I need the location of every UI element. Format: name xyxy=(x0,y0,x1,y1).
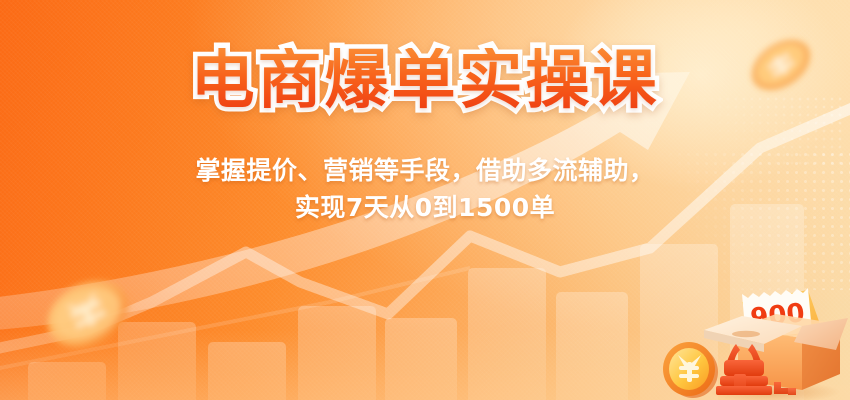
subtitle-block: 掌握提价、营销等手段，借助多流辅助， 实现7天从0到1500单 xyxy=(0,152,850,226)
subtitle-line-1: 掌握提价、营销等手段，借助多流辅助， xyxy=(0,152,850,189)
subtitle-line-2: 实现7天从0到1500单 xyxy=(0,189,850,226)
promo-banner: 电商爆单实操课 电商爆单实操课 掌握提价、营销等手段，借助多流辅助， 实现7天从… xyxy=(0,0,850,400)
yuan-coin-icon xyxy=(660,338,722,400)
blurred-coin-right-icon xyxy=(742,30,820,100)
blurred-coin-left-icon xyxy=(38,268,138,360)
